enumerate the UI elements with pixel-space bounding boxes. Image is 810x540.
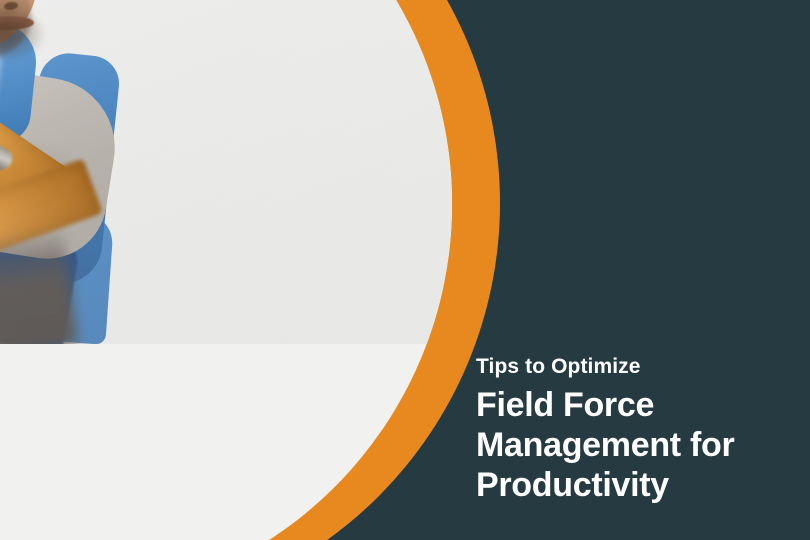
hero-banner: Tips to Optimize Field Force Management …: [0, 0, 810, 540]
page-title: Field Force Management for Productivity: [476, 386, 796, 505]
worker-photograph: [0, 0, 452, 344]
eyebrow-text: Tips to Optimize: [476, 356, 796, 377]
text-block: Tips to Optimize Field Force Management …: [476, 356, 796, 505]
